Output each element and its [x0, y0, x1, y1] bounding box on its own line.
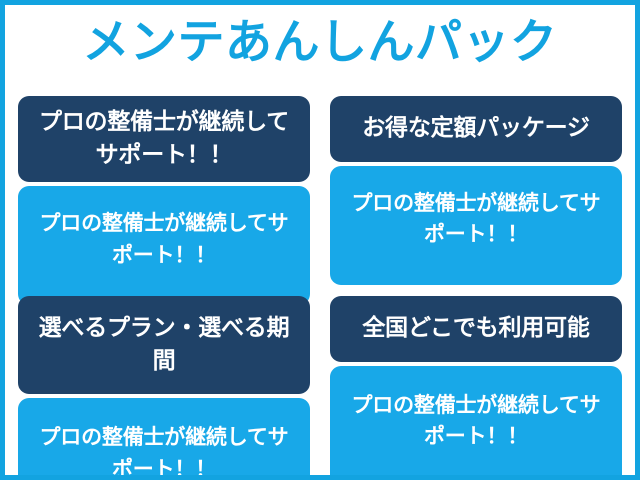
- card-header-nationwide-availability: 全国どこでも利用可能: [330, 296, 622, 362]
- card-body-value-flat-rate-package: プロの整備士が継続してサポート！！: [330, 166, 622, 285]
- feature-card-selectable-plan-and-period[interactable]: 選べるプラン・選べる期間 プロの整備士が継続してサポート！！: [18, 296, 310, 475]
- card-body-nationwide-availability: プロの整備士が継続してサポート！！: [330, 366, 622, 475]
- card-body-pro-mechanic-support: プロの整備士が継続してサポート！！: [18, 186, 310, 305]
- outer-blue-frame: メンテあんしんパック プロの整備士が継続してサポート！！ プロの整備士が継続して…: [0, 0, 640, 480]
- feature-card-pro-mechanic-support[interactable]: プロの整備士が継続してサポート！！ プロの整備士が継続してサポート！！: [18, 96, 310, 305]
- card-body-selectable-plan-and-period: プロの整備士が継続してサポート！！: [18, 398, 310, 475]
- page-title: メンテあんしんパック: [5, 11, 635, 74]
- card-header-selectable-plan-and-period: 選べるプラン・選べる期間: [18, 296, 310, 394]
- feature-card-grid: プロの整備士が継続してサポート！！ プロの整備士が継続してサポート！！ お得な定…: [18, 91, 622, 475]
- card-header-value-flat-rate-package: お得な定額パッケージ: [330, 96, 622, 162]
- feature-card-value-flat-rate-package[interactable]: お得な定額パッケージ プロの整備士が継続してサポート！！: [330, 96, 622, 285]
- content-area: メンテあんしんパック プロの整備士が継続してサポート！！ プロの整備士が継続して…: [5, 5, 635, 475]
- card-header-pro-mechanic-support: プロの整備士が継続してサポート！！: [18, 96, 310, 182]
- feature-card-nationwide-availability[interactable]: 全国どこでも利用可能 プロの整備士が継続してサポート！！: [330, 296, 622, 475]
